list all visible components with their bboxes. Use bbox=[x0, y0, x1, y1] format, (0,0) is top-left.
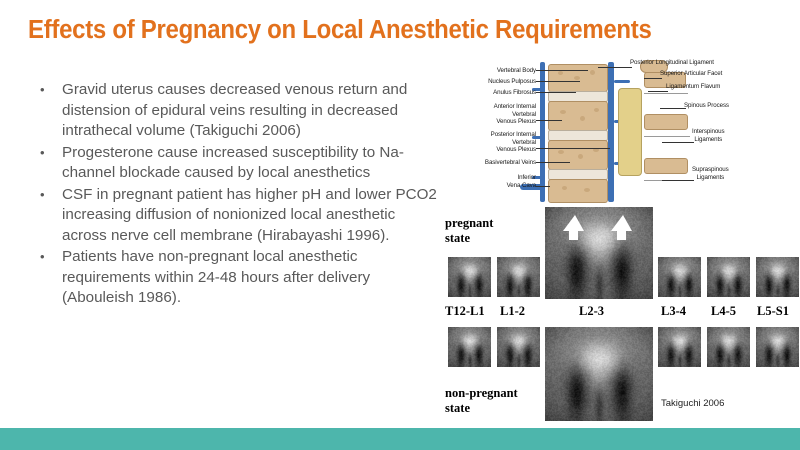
anatomy-label-posterior-longitudinal-ligament: Posterior Longitudinal Ligament bbox=[630, 59, 714, 67]
footer-accent-bar bbox=[0, 428, 800, 450]
interspinous-ligament-shape bbox=[644, 136, 690, 137]
mri-thumb-l3-4-pregnant bbox=[658, 257, 701, 297]
vertebral-body-shape bbox=[548, 101, 608, 131]
bone-texture bbox=[584, 188, 590, 192]
vertebral-body-shape bbox=[548, 179, 608, 203]
anatomy-label-supraspinous-ligaments: Supraspinous Ligaments bbox=[692, 166, 729, 181]
bullet-marker: • bbox=[40, 143, 45, 164]
page-title: Effects of Pregnancy on Local Anesthetic… bbox=[28, 16, 686, 50]
mri-thumb-l5-s1-nonpregnant bbox=[756, 327, 799, 367]
bone-texture bbox=[558, 150, 564, 154]
leader-line bbox=[536, 70, 588, 71]
mri-enlarged-l2-3-pregnant bbox=[545, 207, 653, 299]
anatomy-label-superior-articular-facet: Superior Articular Facet bbox=[660, 70, 722, 78]
mri-enlarged-l2-3-nonpregnant bbox=[545, 327, 653, 421]
mri-thumb-t12-l1-nonpregnant bbox=[448, 327, 491, 367]
bullet-item: • CSF in pregnant patient has higher pH … bbox=[30, 185, 440, 247]
leader-line bbox=[536, 92, 576, 93]
mri-level-label-t12-l1: T12-L1 bbox=[445, 304, 485, 318]
anatomy-label-nucleus-pulposus: Nucleus Pulposus bbox=[448, 78, 536, 86]
leader-line bbox=[536, 162, 570, 163]
bone-texture bbox=[590, 70, 595, 75]
epidural-vein-branch bbox=[614, 80, 630, 83]
leader-line bbox=[644, 78, 662, 79]
anatomy-label-anulus-fibrosus: Anulus Fibrosus bbox=[448, 89, 536, 97]
bone-texture bbox=[562, 186, 567, 190]
epidural-anatomy-illustration: Vertebral Body Nucleus Pulposus Anulus F… bbox=[448, 58, 800, 203]
anterior-venous-plexus-shape bbox=[540, 62, 545, 202]
mri-thumb-t12-l1-pregnant bbox=[448, 257, 491, 297]
anatomy-label-vertebral-body: Vertebral Body bbox=[448, 67, 536, 75]
anatomy-label-inferior-vena-cava: Inferior Vena Cava bbox=[448, 174, 536, 189]
anatomy-label-interspinous-ligaments: Interspinous Ligaments bbox=[692, 128, 725, 143]
anatomy-label-anterior-internal-vertebral-venous-plexus: Anterior Internal Vertebral Venous Plexu… bbox=[448, 103, 536, 126]
bullet-marker: • bbox=[40, 185, 45, 206]
anatomy-label-posterior-internal-vertebral-venous-plexus: Posterior Internal Vertebral Venous Plex… bbox=[448, 131, 536, 154]
anatomy-label-spinous-process: Spinous Process bbox=[684, 102, 729, 110]
mri-thumb-l5-s1-pregnant bbox=[756, 257, 799, 297]
bullet-item: • Progesterone cause increased susceptib… bbox=[30, 143, 440, 184]
bone-texture bbox=[594, 108, 599, 112]
spinous-process-shape bbox=[644, 158, 688, 174]
mri-level-label-l3-4: L3-4 bbox=[661, 304, 686, 318]
leader-line bbox=[536, 186, 550, 187]
leader-line bbox=[662, 142, 694, 143]
posterior-venous-plexus-shape bbox=[608, 62, 614, 202]
citation-label: Takiguchi 2006 bbox=[661, 398, 724, 409]
bullet-item: • Gravid uterus causes decreased venous … bbox=[30, 80, 440, 142]
bone-texture bbox=[558, 71, 563, 75]
mri-level-label-l5-s1: L5-S1 bbox=[757, 304, 789, 318]
mri-comparison-panel: pregnant state non-pregnant state T12-L1… bbox=[445, 205, 800, 425]
bullet-list: • Gravid uterus causes decreased venous … bbox=[30, 80, 440, 310]
mri-thumb-l4-5-nonpregnant bbox=[707, 327, 750, 367]
leader-line bbox=[660, 108, 686, 109]
spinal-cord-shape bbox=[618, 88, 642, 176]
ligamentum-flavum-shape bbox=[644, 93, 688, 94]
leader-line bbox=[598, 67, 632, 68]
bullet-text: Gravid uterus causes decreased venous re… bbox=[62, 81, 407, 139]
bullet-text: Progesterone cause increased susceptibil… bbox=[62, 144, 404, 182]
mri-level-label-l4-5: L4-5 bbox=[711, 304, 736, 318]
leader-line bbox=[536, 148, 610, 149]
leader-line bbox=[662, 180, 694, 181]
bone-texture bbox=[560, 110, 566, 114]
leader-line bbox=[536, 120, 562, 121]
mri-level-label-l1-2: L1-2 bbox=[500, 304, 525, 318]
spinous-process-shape bbox=[644, 114, 688, 130]
bullet-marker: • bbox=[40, 247, 45, 268]
bullet-item: • Patients have non-pregnant local anest… bbox=[30, 247, 440, 309]
anatomy-label-basivertebral-veins: Basivertebral Veins bbox=[448, 159, 536, 167]
leader-line bbox=[648, 91, 668, 92]
bullet-marker: • bbox=[40, 80, 45, 101]
bone-texture bbox=[578, 154, 583, 159]
anatomy-label-ligamentum-flavum: Ligamentum Flavum bbox=[666, 83, 720, 91]
pregnant-state-label: pregnant state bbox=[445, 216, 540, 245]
mri-thumb-l4-5-pregnant bbox=[707, 257, 750, 297]
mri-thumb-l1-2-pregnant bbox=[497, 257, 540, 297]
slide-canvas: Effects of Pregnancy on Local Anesthetic… bbox=[0, 0, 800, 450]
mri-level-label-l2-3: L2-3 bbox=[579, 304, 604, 318]
bone-texture bbox=[574, 76, 580, 80]
bone-texture bbox=[580, 116, 585, 121]
bullet-text: CSF in pregnant patient has higher pH an… bbox=[62, 186, 437, 244]
mri-thumb-l1-2-nonpregnant bbox=[497, 327, 540, 367]
leader-line bbox=[536, 81, 580, 82]
bullet-text: Patients have non-pregnant local anesthe… bbox=[62, 248, 370, 306]
mri-thumb-l3-4-nonpregnant bbox=[658, 327, 701, 367]
non-pregnant-state-label: non-pregnant state bbox=[445, 386, 555, 415]
